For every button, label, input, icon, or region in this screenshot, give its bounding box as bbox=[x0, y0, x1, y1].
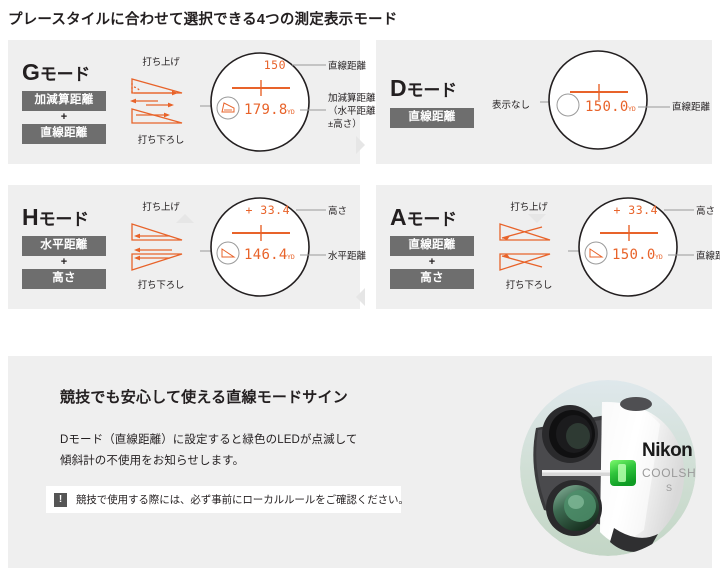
h-mode-scope-wrap: + 33.4 146.4 YD 高さ 水平距離 bbox=[200, 185, 360, 309]
h-mode-callout-top: 高さ bbox=[328, 203, 347, 217]
d-mode-title: Dモード bbox=[390, 77, 488, 100]
g-mode-callout-bottom-line-1: 加減算距離 bbox=[328, 93, 376, 106]
d-mode-scope-wrap: 表示なし 150.0 YD 直線距離 bbox=[488, 40, 712, 164]
led-mode-section: 競技でも安心して使える直線モードサイン Dモード（直線距離）に設定すると緑色のL… bbox=[8, 356, 712, 568]
d-mode-main-value: 150.0 bbox=[585, 99, 629, 115]
a-mode-badge-1: 直線距離 bbox=[390, 236, 474, 256]
led-note-text: 競技で使用する際には、必ず事前にローカルルールをご確認ください。 bbox=[76, 492, 409, 507]
g-mode-title: Gモード bbox=[22, 61, 120, 84]
g-mode-scope-wrap: 150 179.8 YD 直線距離 加減算距離 （水平距離 ±高さ） bbox=[200, 40, 360, 164]
a-mode-main-value: 150.0 bbox=[612, 247, 656, 263]
g-mode-badge-2: 直線距離 bbox=[22, 124, 106, 144]
g-mode-main-unit: YD bbox=[287, 108, 295, 116]
h-mode-main-value: 146.4 bbox=[244, 247, 288, 263]
h-mode-title: Hモード bbox=[22, 206, 120, 229]
a-mode-slope-diagram bbox=[492, 216, 566, 274]
h-mode-callout-bottom: 水平距離 bbox=[328, 248, 366, 262]
a-mode-slope-down-label: 打ち下ろし bbox=[490, 281, 568, 291]
d-mode-letter: D bbox=[390, 75, 407, 101]
a-mode-callout-bottom: 直線距離 bbox=[696, 248, 720, 262]
product-model-suffix-text: S bbox=[666, 483, 672, 493]
g-mode-slope-diagram bbox=[124, 71, 198, 129]
h-mode-slope-up-label: 打ち上げ bbox=[122, 203, 200, 213]
a-mode-scope-wrap: + 33.4 150.0 YD 高さ 直線距離 bbox=[568, 185, 712, 309]
g-mode-callout-bottom-line-3: ±高さ） bbox=[328, 119, 376, 132]
a-mode-suffix: モード bbox=[407, 210, 457, 229]
h-mode-plus: + bbox=[22, 256, 106, 270]
h-mode-badge-2: 高さ bbox=[22, 269, 106, 289]
mode-panel-d: Dモード 直線距離 表示なし 150.0 YD 直線距離 bbox=[376, 40, 712, 164]
connector-arrow-g-to-d bbox=[356, 136, 365, 154]
product-brand-text: Nikon bbox=[642, 440, 692, 461]
g-mode-slope-down-label: 打ち下ろし bbox=[122, 136, 200, 146]
a-mode-left: Aモード 直線距離 + 高さ bbox=[376, 206, 488, 289]
led-text-block: 競技でも安心して使える直線モードサイン Dモード（直線距離）に設定すると緑色のL… bbox=[60, 386, 450, 473]
connector-arrow-h-to-g bbox=[176, 214, 194, 223]
a-mode-slope-up-label: 打ち上げ bbox=[490, 203, 568, 213]
mode-grid: Gモード 加減算距離 + 直線距離 打ち上げ bbox=[0, 40, 720, 309]
g-mode-letter: G bbox=[22, 59, 40, 85]
mode-panel-h: Hモード 水平距離 + 高さ 打ち上げ 打ち下ろし bbox=[8, 185, 360, 309]
g-mode-left: Gモード 加減算距離 + 直線距離 bbox=[8, 61, 120, 144]
led-section-body: Dモード（直線距離）に設定すると緑色のLEDが点滅して 傾斜計の不使用をお知らせ… bbox=[60, 430, 450, 473]
mode-panel-a: Aモード 直線距離 + 高さ 打ち上げ 打ち下ろし bbox=[376, 185, 712, 309]
product-photo-coolshot: Nikon COOLSHOT S bbox=[518, 378, 698, 558]
g-mode-slope-up-label: 打ち上げ bbox=[122, 58, 200, 68]
h-mode-suffix: モード bbox=[39, 210, 89, 229]
page-title: プレースタイルに合わせて選択できる4つの測定表示モード bbox=[0, 0, 720, 29]
h-mode-badge-1: 水平距離 bbox=[22, 236, 106, 256]
led-body-line-2: 傾斜計の不使用をお知らせします。 bbox=[60, 451, 450, 472]
d-mode-callout-bottom: 直線距離 bbox=[672, 99, 710, 113]
product-model-text: COOLSHOT bbox=[642, 466, 698, 480]
h-mode-slope-diagram bbox=[124, 216, 198, 274]
g-mode-plus: + bbox=[22, 111, 106, 125]
a-mode-top-value: + 33.4 bbox=[613, 203, 658, 217]
g-mode-callout-top: 直線距離 bbox=[328, 58, 366, 72]
g-mode-badge-1: 加減算距離 bbox=[22, 91, 106, 111]
mode-panel-g: Gモード 加減算距離 + 直線距離 打ち上げ bbox=[8, 40, 360, 164]
d-mode-left: Dモード 直線距離 bbox=[376, 77, 488, 128]
a-mode-plus: + bbox=[390, 256, 474, 270]
g-mode-slope-block: 打ち上げ 打ち下ろし bbox=[122, 58, 200, 146]
led-body-line-1: Dモード（直線距離）に設定すると緑色のLEDが点滅して bbox=[60, 430, 450, 451]
h-mode-left: Hモード 水平距離 + 高さ bbox=[8, 206, 120, 289]
led-section-title: 競技でも安心して使える直線モードサイン bbox=[60, 386, 450, 407]
led-note-box: ! 競技で使用する際には、必ず事前にローカルルールをご確認ください。 bbox=[46, 486, 401, 513]
a-mode-letter: A bbox=[390, 204, 407, 230]
g-mode-main-value: 179.8 bbox=[244, 102, 288, 118]
h-mode-top-value: + 33.4 bbox=[245, 203, 290, 217]
g-mode-top-value: 150 bbox=[264, 58, 286, 72]
connector-arrow-a-to-h bbox=[356, 288, 365, 306]
d-mode-main-unit: YD bbox=[628, 105, 636, 113]
a-mode-title: Aモード bbox=[390, 206, 488, 229]
d-mode-badge-1: 直線距離 bbox=[390, 108, 474, 128]
h-mode-main-unit: YD bbox=[287, 253, 295, 261]
a-mode-main-unit: YD bbox=[655, 253, 663, 261]
h-mode-letter: H bbox=[22, 204, 39, 230]
a-mode-callout-top: 高さ bbox=[696, 203, 715, 217]
g-mode-suffix: モード bbox=[40, 65, 90, 84]
g-mode-callout-bottom: 加減算距離 （水平距離 ±高さ） bbox=[328, 93, 376, 131]
a-mode-badge-2: 高さ bbox=[390, 269, 474, 289]
connector-arrow-d-to-a bbox=[528, 214, 546, 223]
exclamation-icon: ! bbox=[54, 493, 67, 507]
g-mode-callout-bottom-line-2: （水平距離 bbox=[328, 106, 376, 119]
d-mode-suffix: モード bbox=[407, 81, 457, 100]
h-mode-slope-down-label: 打ち下ろし bbox=[122, 281, 200, 291]
